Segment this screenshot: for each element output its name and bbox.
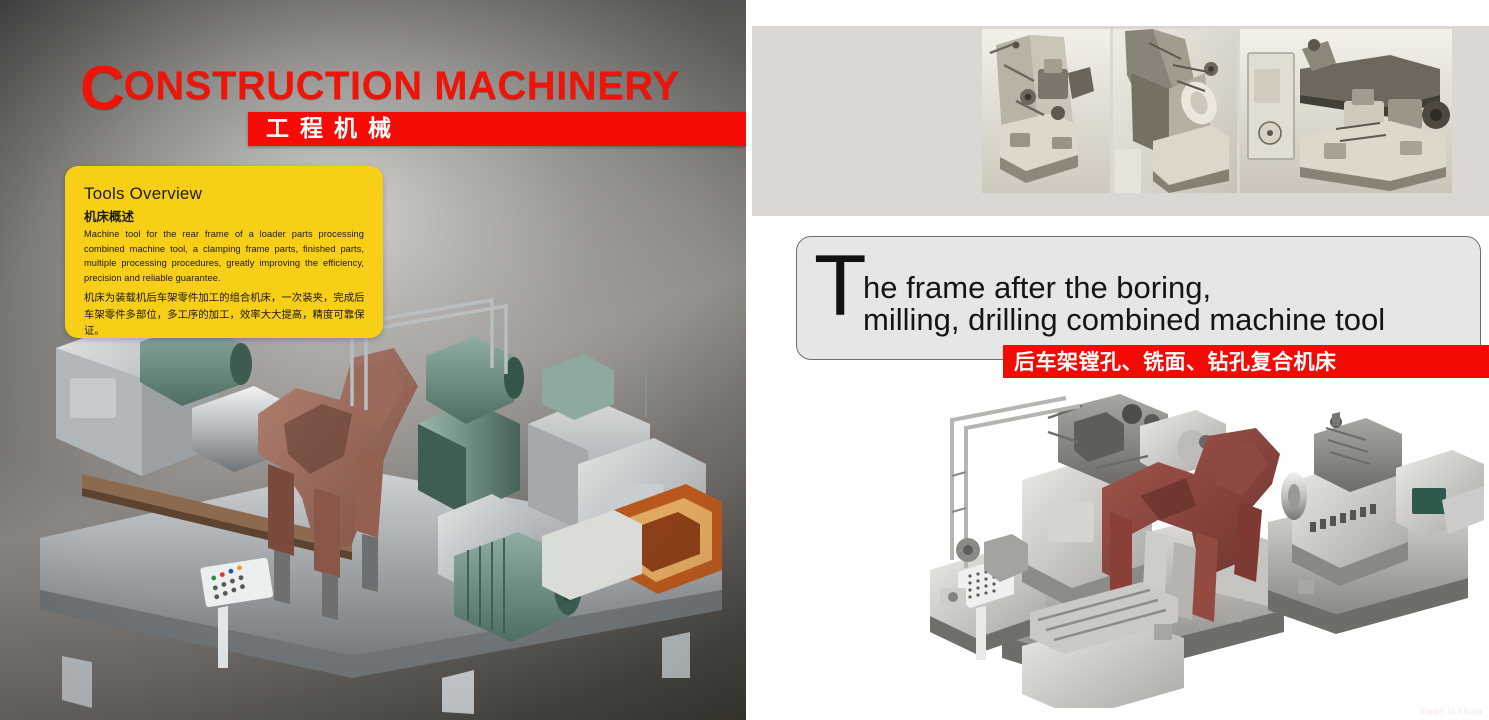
headline-box: T he frame after the boring, milling, dr… (796, 236, 1481, 360)
machine-detail-photo-2 (1113, 29, 1237, 193)
brochure-page: CONSTRUCTION MACHINERY 工程机械 Tools Overvi… (0, 0, 1489, 720)
right-panel: T he frame after the boring, milling, dr… (746, 0, 1489, 720)
title-dropcap: C (80, 58, 124, 120)
title-rest: ONSTRUCTION MACHINERY (124, 66, 680, 106)
headline-line-2: milling, drilling combined machine tool (863, 303, 1385, 337)
machine-right-svg (896, 392, 1486, 708)
watermark-text: made in china (1420, 707, 1483, 716)
overview-title-cn: 机床概述 (84, 206, 134, 225)
overview-body-en: Machine tool for the rear frame of a loa… (84, 227, 364, 285)
tools-overview-card: Tools Overview 机床概述 Machine tool for the… (65, 166, 383, 338)
photo2-svg (1113, 29, 1237, 193)
overview-title-en: Tools Overview (84, 184, 202, 204)
machine-detail-photo-3 (1240, 29, 1452, 193)
left-panel: CONSTRUCTION MACHINERY 工程机械 Tools Overvi… (0, 0, 746, 720)
cn-caption-banner: 后车架镗孔、铣面、钻孔复合机床 (1003, 345, 1489, 378)
cn-title-banner: 工程机械 (248, 112, 746, 146)
cn-title-text: 工程机械 (266, 115, 402, 143)
photo1-svg (982, 29, 1110, 193)
photo3-svg (1240, 29, 1452, 193)
cn-caption-text: 后车架镗孔、铣面、钻孔复合机床 (1014, 349, 1337, 375)
headline-dropcap: T (814, 243, 867, 329)
thumbnail-row (982, 29, 1452, 193)
overview-body-cn: 机床为装载机后车架零件加工的组合机床，一次装夹，完成后车架零件多部位，多工序的加… (84, 290, 366, 340)
rear-frame-combined-machine-tool-photo (896, 392, 1486, 708)
machine-detail-photo-1 (982, 29, 1110, 193)
page-title: CONSTRUCTION MACHINERY (80, 58, 679, 120)
headline-line-1: he frame after the boring, (863, 271, 1211, 305)
